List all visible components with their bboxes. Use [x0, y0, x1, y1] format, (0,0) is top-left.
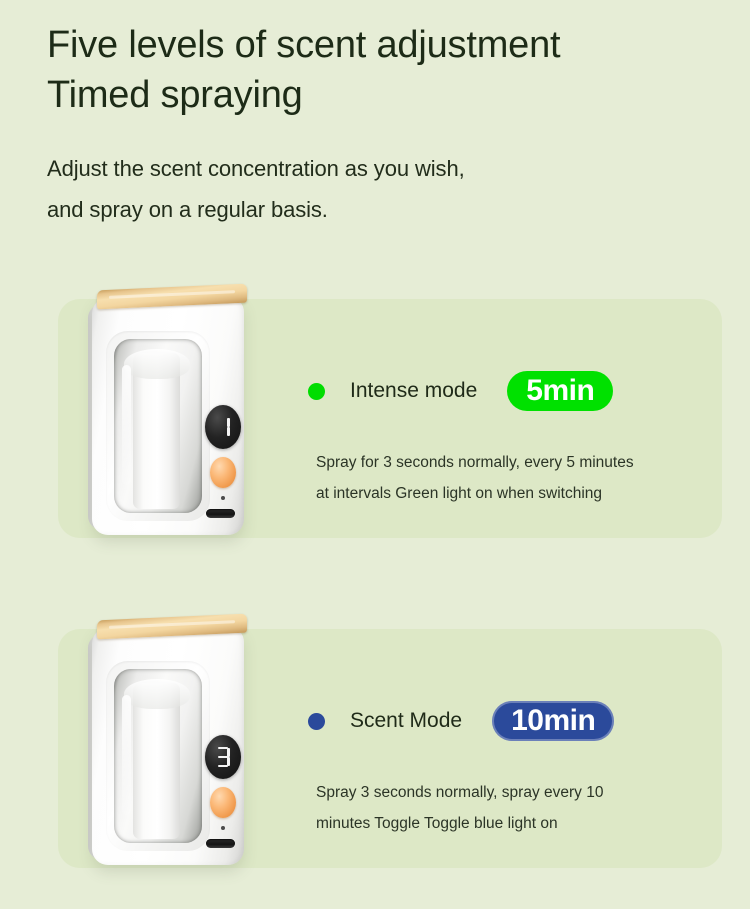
description-line-2: minutes Toggle Toggle blue light on — [316, 808, 716, 839]
headline-line-2: Timed spraying — [47, 70, 707, 120]
device-reservoir-window — [114, 669, 202, 843]
usb-c-port-icon — [206, 509, 235, 518]
indicator-led-icon — [221, 826, 225, 830]
device-glass-highlight — [122, 695, 131, 815]
diffuser-device-image — [80, 283, 260, 539]
mode-row: Scent Mode 10min — [308, 701, 614, 741]
description-line-1: Spray 3 seconds normally, spray every 10 — [316, 777, 716, 808]
duration-badge: 5min — [507, 371, 613, 411]
indicator-led-icon — [221, 496, 225, 500]
mode-card-scent: Scent Mode 10min Spray 3 seconds normall… — [58, 629, 722, 868]
headline-line-1: Five levels of scent adjustment — [47, 20, 707, 70]
display-digit-one — [217, 417, 230, 438]
mode-description: Spray 3 seconds normally, spray every 10… — [316, 777, 716, 839]
status-dot-green — [308, 383, 325, 400]
seven-segment-display-icon — [205, 405, 241, 449]
usb-c-port-icon — [206, 839, 235, 848]
subhead-line-1: Adjust the scent concentration as you wi… — [47, 148, 707, 189]
description-line-1: Spray for 3 seconds normally, every 5 mi… — [316, 447, 716, 478]
device-reservoir-window — [114, 339, 202, 513]
duration-badge: 10min — [492, 701, 614, 741]
mode-row: Intense mode 5min — [308, 371, 613, 411]
seven-segment-display-icon — [205, 735, 241, 779]
device-tube-top — [124, 679, 190, 709]
subhead-line-2: and spray on a regular basis. — [47, 189, 707, 230]
device-tube-top — [124, 349, 190, 379]
header-block: Five levels of scent adjustment Timed sp… — [47, 20, 707, 230]
mode-description: Spray for 3 seconds normally, every 5 mi… — [316, 447, 716, 509]
mode-label: Intense mode — [350, 379, 477, 403]
mode-card-intense: Intense mode 5min Spray for 3 seconds no… — [58, 299, 722, 538]
display-digit-three — [217, 747, 230, 768]
diffuser-device-image — [80, 613, 260, 869]
device-glass-highlight — [122, 365, 131, 485]
mode-label: Scent Mode — [350, 709, 462, 733]
status-dot-blue — [308, 713, 325, 730]
power-button-icon[interactable] — [210, 457, 236, 488]
description-line-2: at intervals Green light on when switchi… — [316, 478, 716, 509]
power-button-icon[interactable] — [210, 787, 236, 818]
